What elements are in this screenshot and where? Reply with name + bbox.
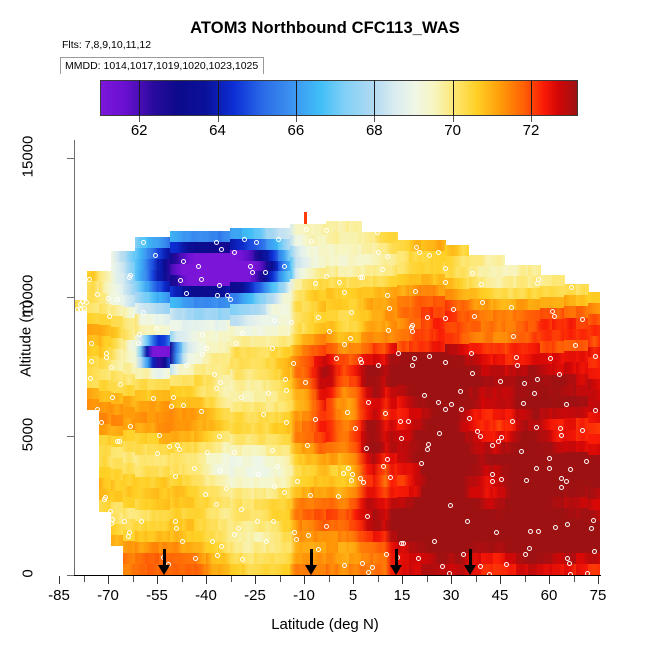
sample-marker [212, 372, 217, 377]
field-cell [266, 250, 279, 262]
field-cell [182, 297, 195, 309]
field-cell [278, 499, 291, 511]
field-cell [302, 367, 315, 379]
field-cell [278, 467, 291, 479]
field-cell [552, 386, 565, 398]
field-cell [159, 357, 172, 369]
field-cell [576, 497, 589, 509]
field-cell [290, 378, 303, 390]
field-cell [111, 305, 124, 317]
field-cell [147, 531, 160, 543]
field-cell [182, 486, 195, 498]
field-cell [182, 564, 195, 575]
sample-marker [141, 310, 146, 315]
field-cell [314, 334, 327, 346]
field-cell [361, 520, 374, 532]
field-cell [421, 318, 434, 330]
field-cell [314, 367, 327, 379]
sample-marker [289, 320, 294, 325]
field-cell [516, 509, 529, 521]
field-cell [147, 379, 160, 391]
field-cell [409, 564, 422, 575]
field-cell [278, 423, 291, 435]
field-cell [194, 286, 207, 298]
field-cell [481, 498, 494, 510]
field-cell [159, 477, 172, 489]
field-cell [564, 351, 577, 363]
field-cell [564, 452, 577, 464]
field-cell [290, 235, 303, 247]
field-cell [242, 402, 255, 414]
field-cell [123, 396, 136, 408]
field-cell [302, 498, 315, 510]
field-cell [194, 453, 207, 465]
field-cell [361, 376, 374, 388]
field-cell [528, 564, 541, 575]
field-cell [552, 542, 565, 554]
field-cell [445, 333, 458, 345]
field-cell [194, 508, 207, 520]
field-cell [481, 409, 494, 421]
field-cell [564, 407, 577, 419]
field-cell [302, 465, 315, 477]
sample-marker [514, 355, 519, 360]
field-cell [230, 423, 243, 435]
field-cell [516, 464, 529, 476]
field-cell [373, 276, 386, 288]
field-cell [326, 542, 339, 554]
field-cell [254, 369, 267, 381]
field-cell [123, 262, 136, 274]
field-cell [564, 541, 577, 553]
field-cell [445, 388, 458, 400]
field-cell [290, 487, 303, 499]
field-cell [564, 374, 577, 386]
field-cell [481, 332, 494, 344]
sample-marker [360, 275, 365, 280]
field-cell [540, 475, 553, 487]
field-cell [397, 385, 410, 397]
field-cell [540, 531, 553, 543]
sample-marker [239, 395, 244, 400]
field-cell [528, 431, 541, 443]
sample-marker [381, 464, 386, 469]
x-axis-tick-label: -10 [293, 587, 315, 604]
field-cell [135, 466, 148, 478]
colorbar-tick-label: 70 [444, 122, 461, 139]
field-cell [564, 508, 577, 520]
field-cell [361, 254, 374, 266]
field-cell [290, 564, 303, 575]
field-cell [385, 232, 398, 244]
field-cell [552, 275, 565, 287]
field-cell [326, 299, 339, 311]
field-cell [194, 531, 207, 543]
field-cell [278, 271, 291, 283]
field-cell [433, 285, 446, 297]
field-cell [135, 314, 148, 326]
field-cell [421, 285, 434, 297]
field-cell [123, 452, 136, 464]
field-cell [242, 412, 255, 424]
field-cell [99, 456, 112, 468]
field-cell [540, 553, 553, 565]
field-cell [206, 353, 219, 365]
field-cell [457, 245, 470, 257]
x-axis-tick-label: -55 [146, 587, 168, 604]
field-cell [326, 387, 339, 399]
field-cell [516, 332, 529, 344]
field-cell [218, 353, 231, 365]
field-cell [481, 288, 494, 300]
field-cell [409, 385, 422, 397]
field-cell [290, 257, 303, 269]
sample-marker [443, 407, 448, 412]
field-cell [469, 465, 482, 477]
sample-marker [184, 291, 189, 296]
field-cell [409, 441, 422, 453]
field-cell [99, 282, 112, 294]
field-cell [254, 250, 267, 262]
field-cell [528, 354, 541, 366]
field-cell [314, 454, 327, 466]
field-cell [326, 310, 339, 322]
field-cell [194, 386, 207, 398]
field-cell [397, 396, 410, 408]
field-cell [242, 456, 255, 468]
field-cell [588, 477, 600, 489]
field-cell [349, 321, 362, 333]
sample-marker [528, 529, 533, 534]
field-cell [576, 396, 589, 408]
field-cell [516, 409, 529, 421]
colorbar-gradient [100, 80, 578, 116]
sample-marker [524, 478, 529, 483]
field-cell [159, 325, 172, 337]
x-axis-minor-tick [378, 576, 379, 582]
x-axis-tick-label: 30 [443, 587, 460, 604]
field-cell [242, 347, 255, 359]
field-cell [147, 510, 160, 522]
field-cell [218, 386, 231, 398]
field-cell [147, 401, 160, 413]
field-cell [206, 375, 219, 387]
field-cell [326, 453, 339, 465]
field-cell [123, 564, 136, 575]
field-cell [266, 304, 279, 316]
field-cell [421, 475, 434, 487]
field-cell [123, 508, 136, 520]
field-cell [254, 456, 267, 468]
field-cell [99, 424, 112, 436]
field-cell [194, 397, 207, 409]
field-cell [314, 246, 327, 258]
field-cell [552, 464, 565, 476]
field-cell [159, 292, 172, 304]
field-cell [397, 408, 410, 420]
field-cell [266, 488, 279, 500]
field-cell [254, 542, 267, 554]
field-cell [469, 498, 482, 510]
colorbar-tick-label: 62 [131, 122, 148, 139]
field-cell [254, 326, 267, 338]
field-cell [349, 442, 362, 454]
field-cell [457, 322, 470, 334]
sample-marker [490, 479, 495, 484]
field-cell [349, 387, 362, 399]
field-cell [242, 358, 255, 370]
field-cell [385, 398, 398, 410]
field-cell [385, 431, 398, 443]
x-axis-tick [500, 576, 501, 584]
field-cell [230, 239, 243, 251]
sample-marker [295, 479, 300, 484]
sample-marker [234, 341, 239, 346]
x-axis-line [74, 575, 601, 576]
field-cell [445, 410, 458, 422]
field-cell [242, 488, 255, 500]
field-cell [123, 474, 136, 486]
field-cell [397, 508, 410, 520]
field-cell [445, 553, 458, 565]
field-cell [314, 301, 327, 313]
field-cell [218, 264, 231, 276]
field-cell [99, 271, 112, 283]
field-cell [147, 466, 160, 478]
field-cell [373, 310, 386, 322]
field-cell [493, 409, 506, 421]
field-cell [170, 286, 183, 298]
field-cell [111, 447, 124, 459]
field-cell [206, 297, 219, 309]
field-cell [576, 508, 589, 520]
field-cell [87, 313, 100, 324]
field-cell [385, 376, 398, 388]
field-cell [218, 553, 231, 565]
field-cell [361, 287, 374, 299]
field-cell [182, 231, 195, 243]
field-cell [170, 331, 183, 343]
field-cell [111, 316, 124, 328]
field-cell [123, 430, 136, 442]
mmdd-annotation: MMDD: 1014,1017,1019,1020,1023,1025 [60, 57, 264, 74]
field-cell [540, 542, 553, 554]
field-cell [135, 412, 148, 424]
sample-marker [254, 240, 259, 245]
field-cell [349, 244, 362, 256]
field-cell [338, 498, 351, 510]
field-cell [373, 487, 386, 499]
field-cell [123, 251, 136, 263]
field-cell [194, 242, 207, 254]
y-axis-tick-label: 5000 [20, 403, 37, 467]
sample-marker [399, 436, 404, 441]
field-cell [218, 531, 231, 543]
sample-marker [567, 561, 572, 566]
field-cell [409, 374, 422, 386]
field-cell [266, 423, 279, 435]
sample-marker [443, 280, 448, 285]
field-cell [588, 412, 600, 424]
field-cell [433, 519, 446, 531]
sample-marker [224, 486, 229, 491]
field-cell [493, 277, 506, 289]
field-cell [230, 564, 243, 575]
field-cell [123, 463, 136, 475]
field-cell [433, 497, 446, 509]
field-cell [433, 296, 446, 308]
profile-spike [304, 212, 307, 224]
field-cell [242, 423, 255, 435]
field-cell [349, 232, 362, 244]
sample-marker [366, 400, 371, 405]
x-axis-tick-label: -85 [48, 587, 70, 604]
field-cell [373, 298, 386, 310]
sample-marker [271, 519, 276, 524]
plot-area [74, 140, 600, 575]
field-cell [576, 295, 589, 307]
field-cell [135, 248, 148, 260]
field-cell [457, 333, 470, 345]
field-cell [147, 412, 160, 424]
field-cell [266, 293, 279, 305]
sample-marker [157, 433, 162, 438]
field-cell [194, 542, 207, 554]
field-cell [99, 369, 112, 381]
x-axis-minor-tick [427, 576, 428, 582]
sample-marker [261, 412, 266, 417]
field-cell [481, 542, 494, 554]
field-cell [170, 342, 183, 354]
field-cell [516, 299, 529, 311]
field-cell [111, 273, 124, 285]
field-cell [147, 357, 160, 369]
field-cell [314, 421, 327, 433]
field-cell [564, 295, 577, 307]
field-cell [528, 310, 541, 322]
field-cell [266, 542, 279, 554]
field-cell [159, 379, 172, 391]
field-cell [87, 324, 100, 335]
sample-marker [490, 443, 495, 448]
field-cell [564, 329, 577, 341]
y-axis-tick [67, 158, 74, 159]
field-cell [493, 442, 506, 454]
field-cell [528, 398, 541, 410]
field-cell [361, 498, 374, 510]
field-cell [481, 520, 494, 532]
field-cell [159, 455, 172, 467]
field-cell [147, 335, 160, 347]
field-cell [278, 434, 291, 446]
field-cell [493, 299, 506, 311]
field-cell [170, 364, 183, 376]
field-cell [111, 251, 124, 263]
field-cell [254, 423, 267, 435]
field-cell [242, 434, 255, 446]
field-cell [326, 288, 339, 300]
field-cell [576, 340, 589, 352]
sample-marker [180, 539, 185, 544]
field-cell [326, 476, 339, 488]
field-cell [338, 431, 351, 443]
field-cell [278, 532, 291, 544]
field-cell [242, 304, 255, 316]
field-cell [469, 288, 482, 300]
field-canvas [74, 140, 600, 575]
field-cell [576, 351, 589, 363]
field-cell [123, 295, 136, 307]
field-cell [481, 365, 494, 377]
field-cell [481, 354, 494, 366]
field-cell [242, 467, 255, 479]
field-cell [111, 338, 124, 350]
field-cell [338, 453, 351, 465]
field-cell [361, 409, 374, 421]
field-cell [445, 322, 458, 334]
field-cell [457, 465, 470, 477]
field-cell [87, 388, 100, 399]
y-axis-tick-label: 15000 [20, 125, 37, 189]
x-axis-minor-tick [84, 576, 85, 582]
field-cell [159, 488, 172, 500]
x-axis-tick [353, 576, 354, 584]
y-axis-tick-label: 0 [20, 542, 37, 606]
field-cell [254, 553, 267, 565]
field-cell [588, 499, 600, 511]
flight-segment-arrow [390, 549, 403, 575]
field-cell [457, 289, 470, 301]
field-cell [111, 327, 124, 339]
field-cell [218, 231, 231, 243]
field-cell [457, 267, 470, 279]
field-cell [493, 365, 506, 377]
field-cell [397, 452, 410, 464]
field-cell [111, 404, 124, 416]
field-cell [290, 345, 303, 357]
field-cell [170, 308, 183, 320]
field-cell [135, 346, 148, 358]
field-cell [397, 240, 410, 252]
sample-marker [350, 472, 355, 477]
field-cell [302, 520, 315, 532]
field-cell [170, 564, 183, 575]
field-cell [516, 420, 529, 432]
field-cell [564, 497, 577, 509]
field-cell [230, 434, 243, 446]
sample-marker [205, 450, 210, 455]
field-cell [135, 292, 148, 304]
field-cell [111, 415, 124, 427]
sample-marker [127, 530, 132, 535]
field-cell [159, 368, 172, 380]
field-cell [218, 342, 231, 354]
field-cell [123, 486, 136, 498]
field-cell [469, 387, 482, 399]
sample-marker [266, 391, 271, 396]
field-cell [206, 253, 219, 265]
field-cell [505, 376, 518, 388]
x-axis-tick [304, 576, 305, 584]
field-cell [361, 542, 374, 554]
field-cell [254, 445, 267, 457]
field-cell [170, 242, 183, 254]
field-cell [314, 465, 327, 477]
sample-marker [396, 351, 401, 356]
field-cell [254, 488, 267, 500]
field-cell [588, 325, 600, 337]
field-cell [421, 341, 434, 353]
